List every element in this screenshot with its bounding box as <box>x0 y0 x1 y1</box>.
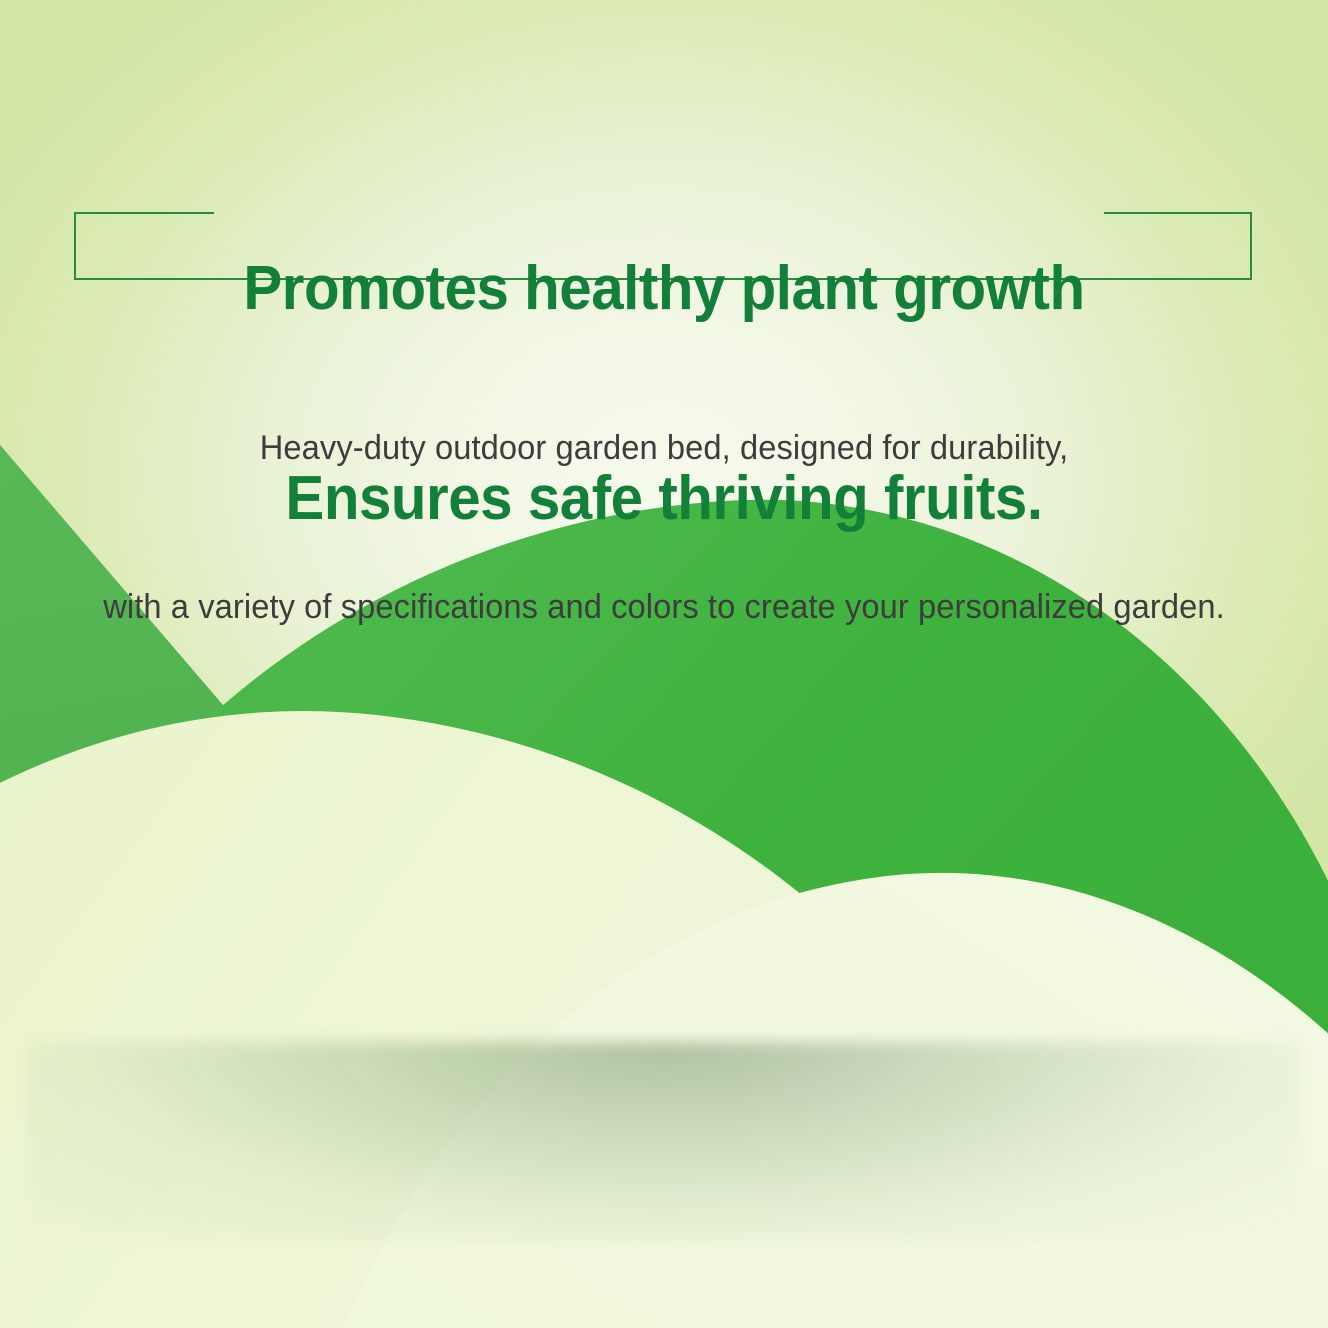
headline-line-1: Promotes healthy plant growth <box>40 254 1288 324</box>
subcopy-line-2: with a variety of specifications and col… <box>27 581 1302 634</box>
subcopy: Heavy-duty outdoor garden bed, designed … <box>27 316 1302 740</box>
ground-shadow <box>27 1042 1302 1241</box>
rose-plants <box>36 690 1294 930</box>
foliage-mass <box>36 758 1294 930</box>
product-banner: Promotes healthy plant growth Ensures sa… <box>0 0 1328 1328</box>
subcopy-line-1: Heavy-duty outdoor garden bed, designed … <box>27 422 1302 475</box>
